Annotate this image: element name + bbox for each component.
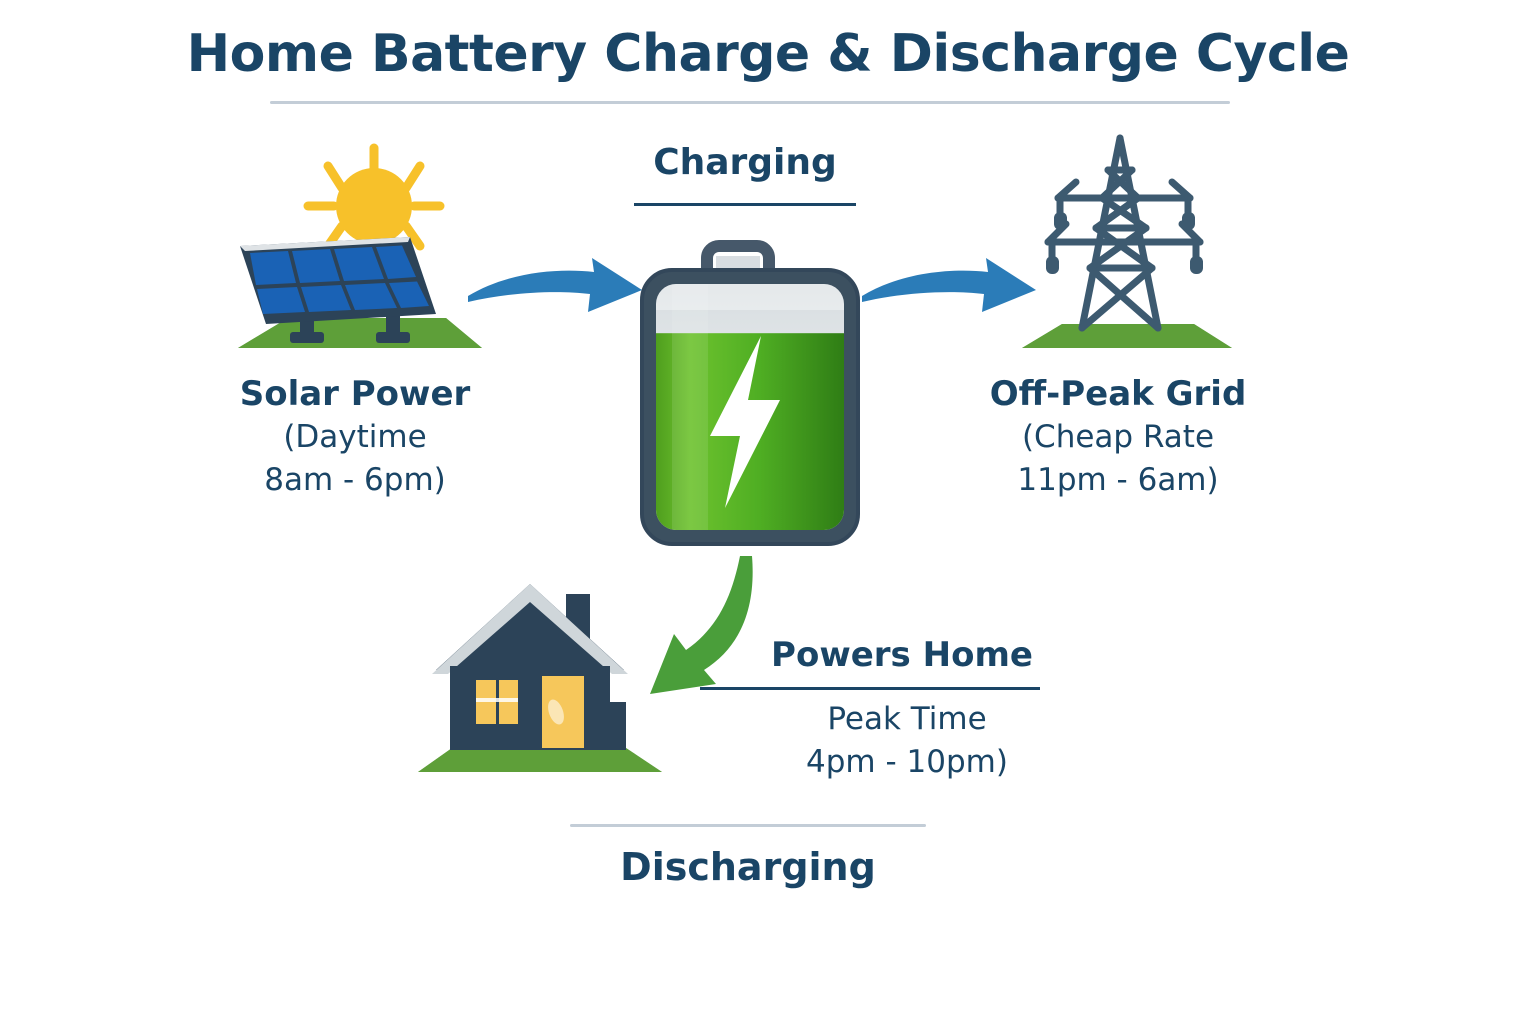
home-caption: Peak Time 4pm - 10pm): [762, 698, 1052, 784]
discharging-label: Discharging: [570, 845, 926, 889]
grid-caption-sub1: (Cheap Rate: [968, 416, 1268, 459]
charging-label: Charging: [634, 142, 856, 183]
page-title: Home Battery Charge & Discharge Cycle: [0, 24, 1536, 84]
home-caption-sub2: 4pm - 10pm): [762, 741, 1052, 784]
solar-caption-sub2: 8am - 6pm): [205, 459, 505, 502]
solar-caption-sub1: (Daytime: [205, 416, 505, 459]
charging-underline: [634, 203, 856, 206]
grid-caption-head: Off-Peak Grid: [968, 372, 1268, 416]
discharging-divider: [570, 824, 926, 827]
title-divider: [270, 101, 1230, 104]
transmission-tower-icon: [1004, 124, 1244, 358]
powers-home-label: Powers Home: [762, 635, 1042, 675]
house-icon: [412, 562, 668, 790]
solar-panel-icon: [228, 132, 492, 360]
grid-caption: Off-Peak Grid (Cheap Rate 11pm - 6am): [968, 372, 1268, 502]
battery-charging-icon: [628, 240, 872, 560]
powers-home-underline: [700, 687, 1040, 690]
solar-caption-head: Solar Power: [205, 372, 505, 416]
solar-to-battery-arrow: [462, 250, 648, 332]
home-caption-sub1: Peak Time: [762, 698, 1052, 741]
infographic-canvas: Home Battery Charge & Discharge Cycle Ch…: [0, 0, 1536, 1024]
solar-caption: Solar Power (Daytime 8am - 6pm): [205, 372, 505, 502]
grid-caption-sub2: 11pm - 6am): [968, 459, 1268, 502]
